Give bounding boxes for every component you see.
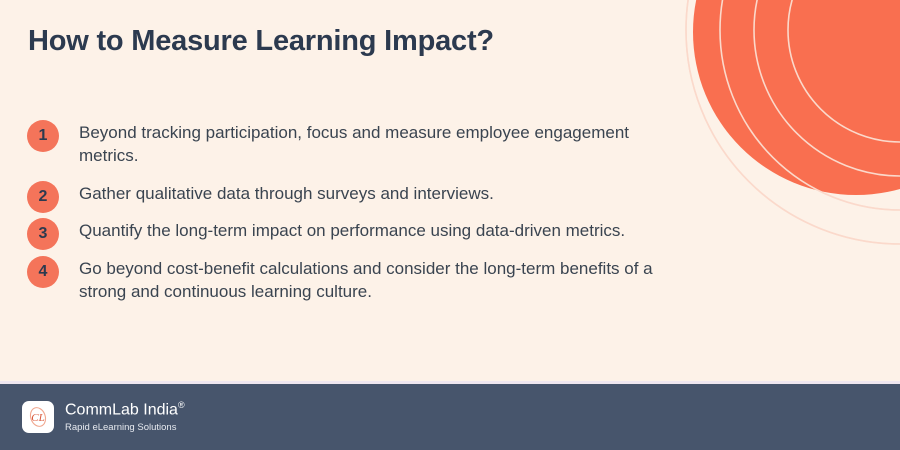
background-arc-group (686, 0, 900, 244)
brand-name: CommLab India® (65, 401, 185, 420)
list-item-text: Beyond tracking participation, focus and… (79, 119, 667, 168)
brand-tagline: Rapid eLearning Solutions (65, 422, 185, 433)
list-item-text: Quantify the long-term impact on perform… (79, 217, 667, 242)
svg-text:CL: CL (31, 412, 44, 424)
list-item-text: Go beyond cost-benefit calculations and … (79, 255, 667, 304)
footer-bar: CL CommLab India® Rapid eLearning Soluti… (0, 384, 900, 450)
list-item: 3 Quantify the long-term impact on perfo… (27, 217, 667, 242)
brand-name-text: CommLab India (65, 401, 178, 418)
list-number-badge: 4 (27, 256, 59, 288)
commlab-logo-icon: CL (22, 401, 54, 433)
list-item: 2 Gather qualitative data through survey… (27, 180, 667, 205)
registered-trademark-icon: ® (178, 400, 185, 410)
list-item: 1 Beyond tracking participation, focus a… (27, 119, 667, 168)
brand-lockup: CL CommLab India® Rapid eLearning Soluti… (22, 401, 185, 433)
measure-list: 1 Beyond tracking participation, focus a… (27, 119, 667, 304)
page-title: How to Measure Learning Impact? (28, 22, 498, 60)
slide-canvas: How to Measure Learning Impact? 1 Beyond… (0, 0, 900, 450)
orange-circle (693, 0, 900, 195)
brand-text-block: CommLab India® Rapid eLearning Solutions (65, 401, 185, 433)
list-item: 4 Go beyond cost-benefit calculations an… (27, 255, 667, 304)
overlay-arc-group (686, 0, 900, 244)
list-item-text: Gather qualitative data through surveys … (79, 180, 667, 205)
list-number-badge: 2 (27, 181, 59, 213)
list-number-badge: 1 (27, 120, 59, 152)
list-number-badge: 3 (27, 218, 59, 250)
